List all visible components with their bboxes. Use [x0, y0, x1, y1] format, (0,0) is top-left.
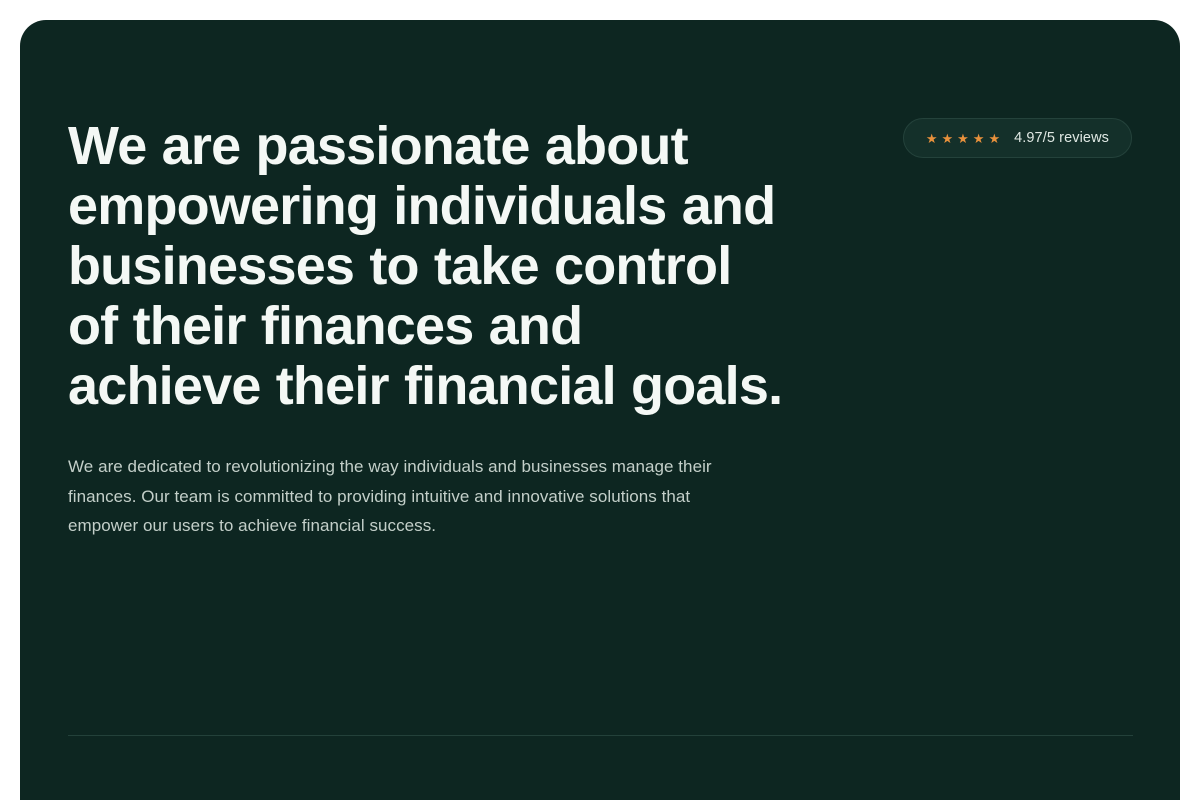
star-rating-group: ★ ★ ★ ★ ★	[926, 132, 1000, 145]
star-filled-icon: ★	[957, 132, 969, 145]
section-divider	[68, 735, 1133, 736]
rating-label: 4.97/5 reviews	[1014, 130, 1109, 146]
star-filled-icon: ★	[941, 132, 953, 145]
page-root: ★ ★ ★ ★ ★ 4.97/5 reviews We are passiona…	[0, 0, 1200, 800]
rating-badge[interactable]: ★ ★ ★ ★ ★ 4.97/5 reviews	[903, 118, 1132, 158]
hero-content: We are passionate about empowering indiv…	[68, 20, 808, 541]
star-filled-icon: ★	[988, 132, 1000, 145]
star-filled-icon: ★	[926, 132, 938, 145]
hero-card: ★ ★ ★ ★ ★ 4.97/5 reviews We are passiona…	[20, 20, 1180, 800]
star-filled-icon: ★	[973, 132, 985, 145]
hero-description: We are dedicated to revolutionizing the …	[68, 452, 740, 541]
page-title: We are passionate about empowering indiv…	[68, 116, 788, 416]
